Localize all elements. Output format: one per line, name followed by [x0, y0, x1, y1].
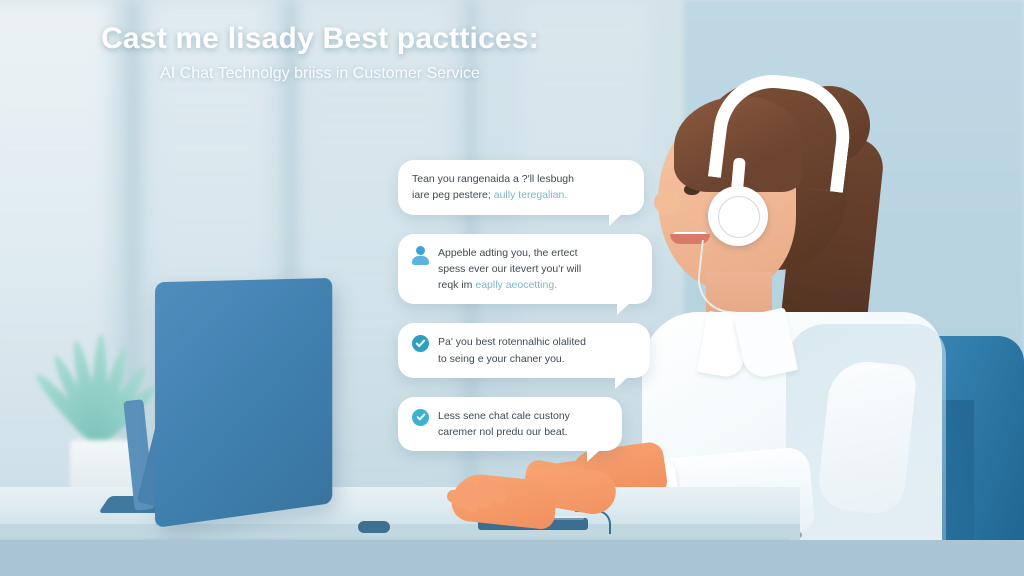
chat-line: iare peg pestere;	[412, 189, 491, 201]
chat-line: reqk im	[438, 279, 472, 291]
chat-line: Pa' you best rotennalhic olalited	[438, 336, 586, 348]
chat-line-accent: eaplly aeocetting.	[475, 279, 557, 291]
blouse-fold	[816, 358, 917, 516]
mouse	[358, 521, 390, 533]
chat-line: Appeble adting you, the ertect	[438, 247, 578, 259]
user-avatar-icon	[412, 246, 429, 264]
chat-bubble[interactable]: Appeble adting you, the ertect spess eve…	[398, 234, 652, 305]
page-title: Cast me lisady Best pacttices:	[0, 22, 640, 55]
chat-line: spess ever our itevert you'r will	[438, 263, 581, 275]
chat-bubble[interactable]: Less sene chat cale custony caremer nol …	[398, 397, 622, 452]
chat-bubble-text: Less sene chat cale custony caremer nol …	[438, 408, 608, 441]
check-circle-icon	[412, 409, 429, 426]
illustration-scene: Cast me lisady Best pacttices: AI Chat T…	[0, 0, 1024, 576]
chat-bubble[interactable]: Tean you rangenaida a ?'ll lesbugh iare …	[398, 160, 644, 215]
desktop-monitor	[155, 278, 332, 528]
floor	[0, 540, 1024, 576]
check-circle-icon	[412, 335, 429, 352]
chat-bubble-text: Tean you rangenaida a ?'ll lesbugh iare …	[412, 171, 630, 204]
chat-bubble-text: Pa' you best rotennalhic olalited to sei…	[438, 334, 636, 367]
chat-bubble[interactable]: Pa' you best rotennalhic olalited to sei…	[398, 323, 650, 378]
headset-earcup-ring	[718, 196, 760, 238]
chat-line: caremer nol predu our beat.	[438, 426, 568, 438]
chat-line-accent: aully teregalian.	[494, 189, 568, 201]
chat-line: Less sene chat cale custony	[438, 410, 570, 422]
chat-line: to seing e your chaner you.	[438, 353, 565, 365]
chat-line: Tean you rangenaida a ?'ll lesbugh	[412, 173, 574, 185]
chat-bubble-text: Appeble adting you, the ertect spess eve…	[438, 245, 638, 294]
title-block: Cast me lisady Best pacttices: AI Chat T…	[0, 22, 640, 83]
chat-bubble-group: Tean you rangenaida a ?'ll lesbugh iare …	[398, 160, 648, 470]
headset-mic-boom-icon	[694, 240, 747, 314]
page-subtitle: AI Chat Technolgy briiss in Customer Ser…	[0, 65, 640, 83]
